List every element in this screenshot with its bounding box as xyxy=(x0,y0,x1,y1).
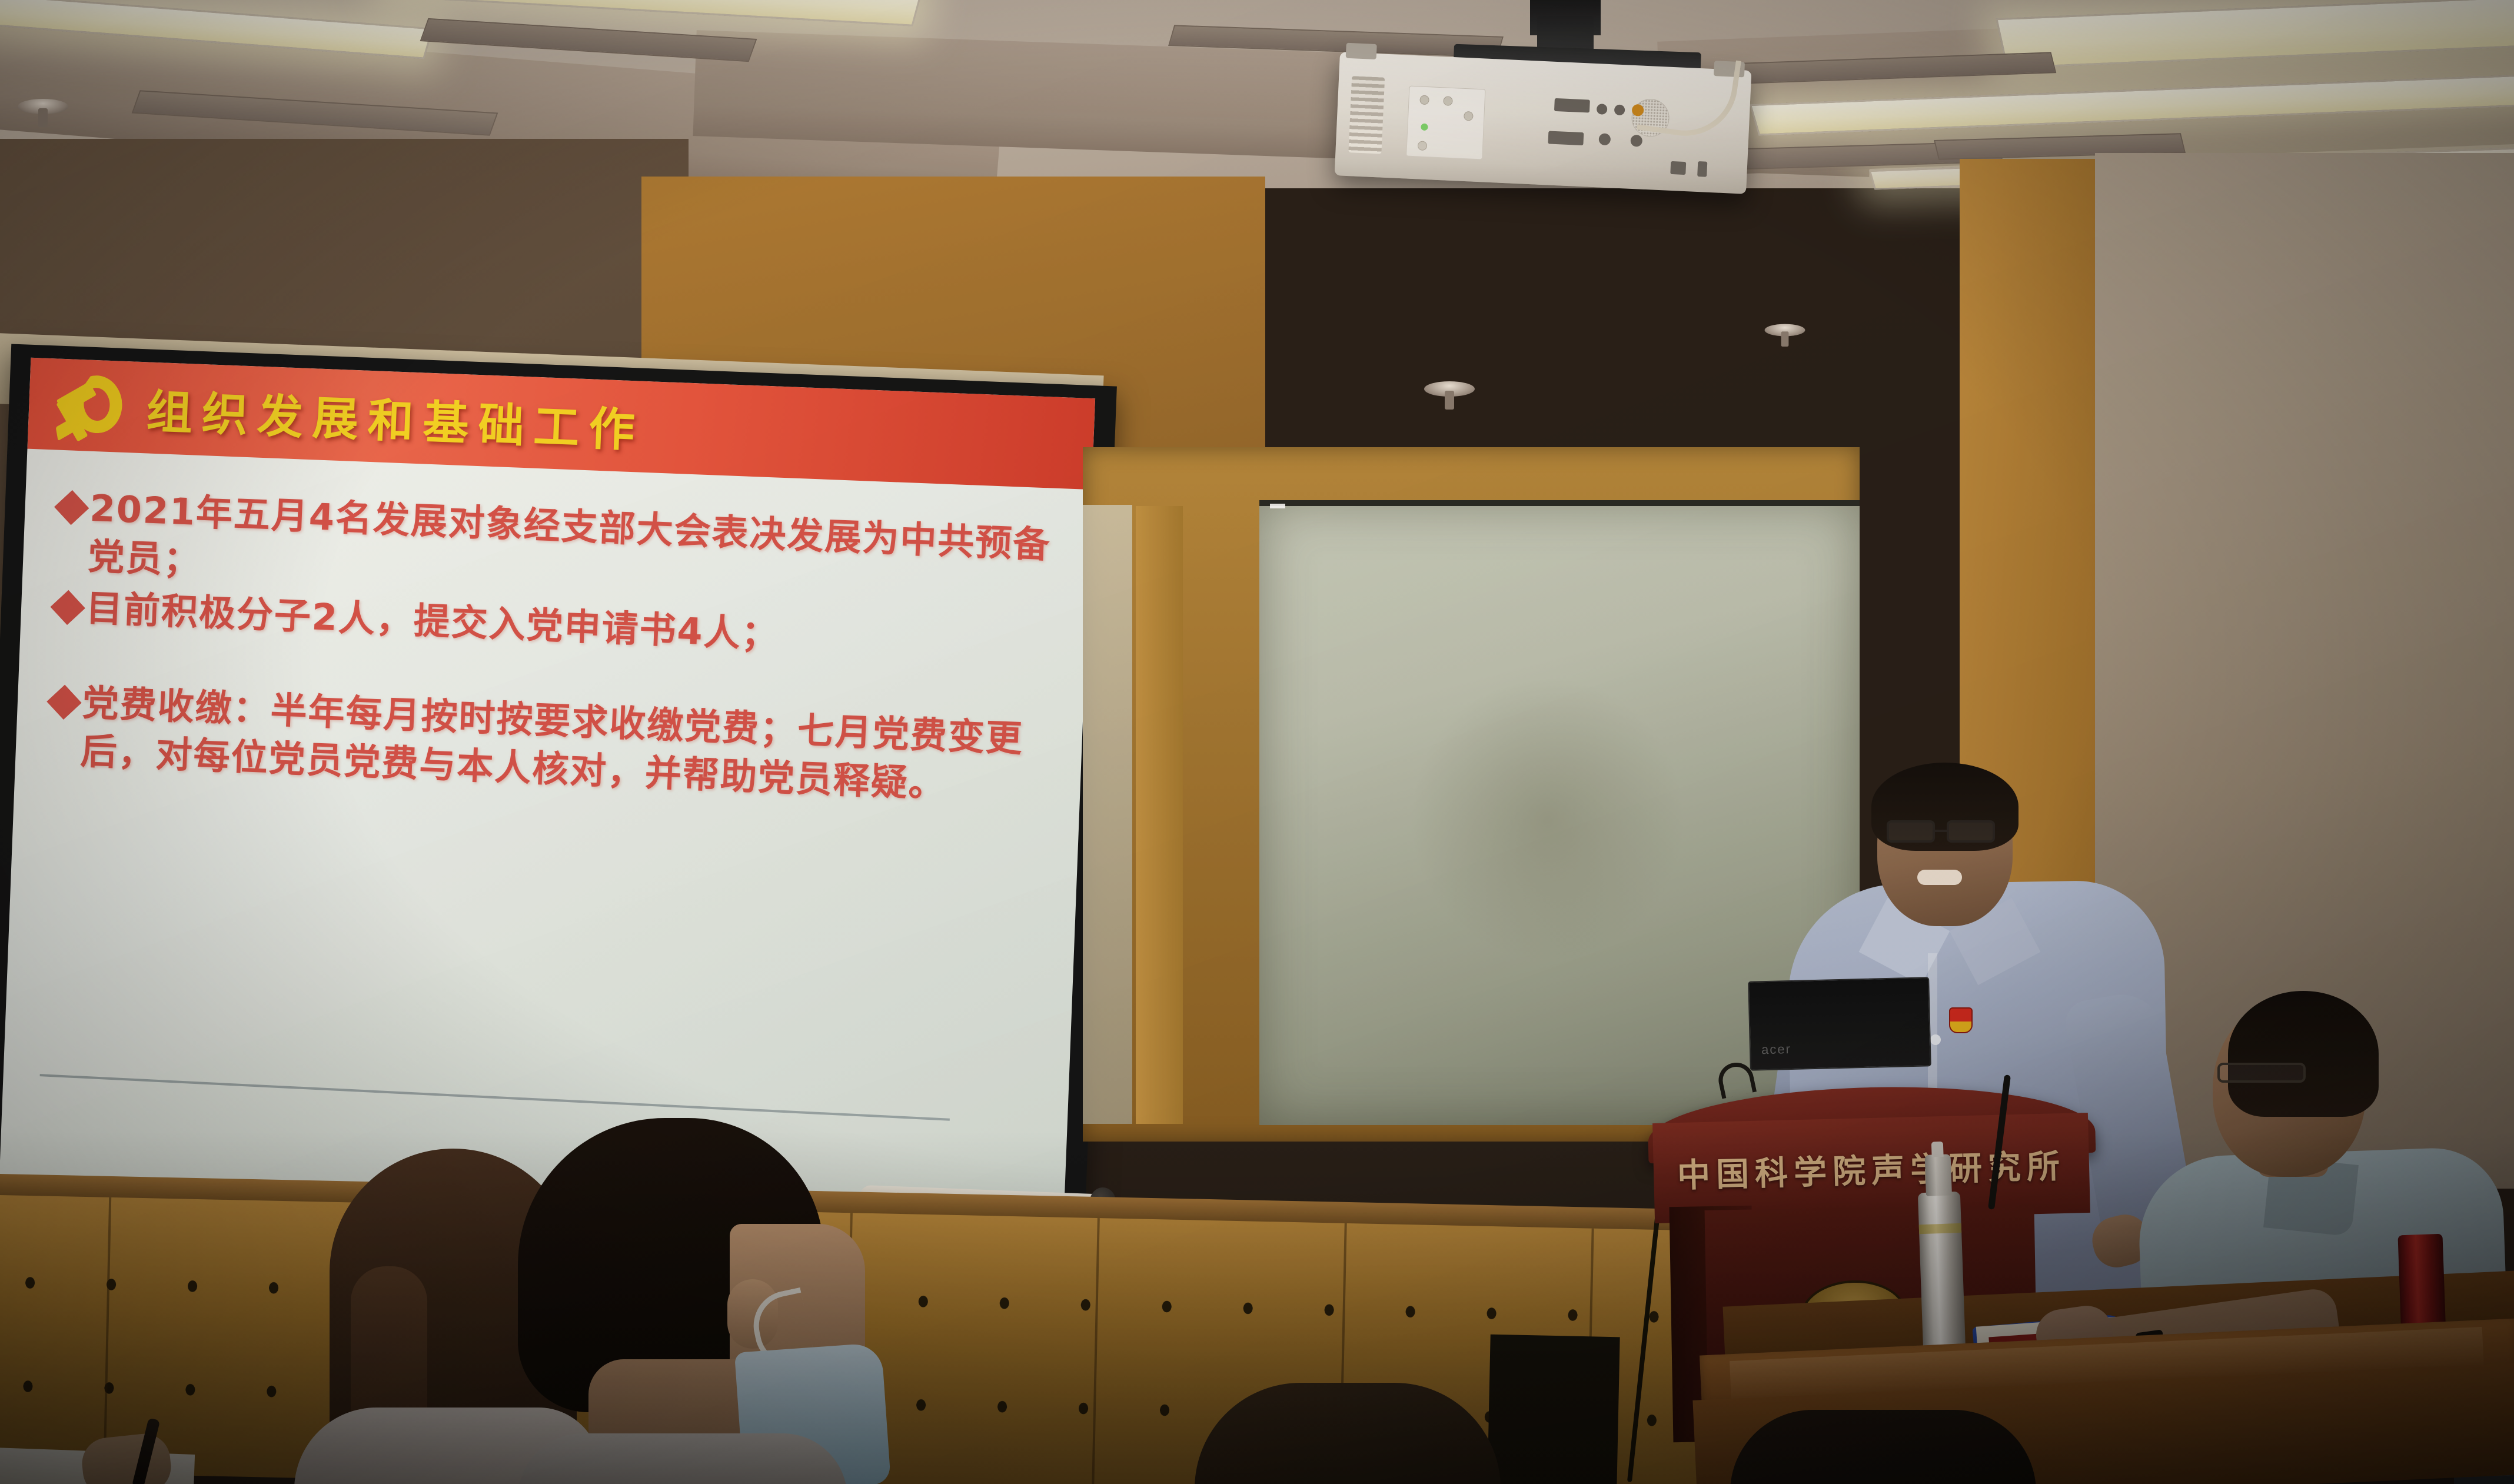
seated-man-hair xyxy=(2228,991,2379,1117)
speaker-mouth xyxy=(1917,870,1962,885)
projector-status-led xyxy=(1421,124,1428,131)
projector-vga-port xyxy=(1554,98,1590,113)
projector-audio-port xyxy=(1597,104,1608,115)
projector-audio-port xyxy=(1614,104,1625,115)
sprinkler-head-icon xyxy=(1424,381,1475,397)
podium-institution-label: 中国科学院声学研究所 xyxy=(1677,1139,2066,1196)
silver-thermos[interactable] xyxy=(1918,1192,1966,1369)
bullet-diamond-icon xyxy=(46,685,81,720)
audience-man-shoulder xyxy=(518,1433,847,1484)
whiteboard-top-shadow xyxy=(1259,500,1860,506)
audience-head-right xyxy=(1730,1410,2036,1484)
hammer-and-sickle-icon xyxy=(52,371,128,440)
thermos-cap xyxy=(1925,1154,1952,1196)
sprinkler-head-icon xyxy=(1765,324,1805,337)
bullet-diamond-icon xyxy=(51,590,85,624)
presentation-slide: 组织发展和基础工作 2021年五月4名发展对象经支部大会表决发展为中共预备党员；… xyxy=(0,358,1095,1224)
sprinkler-head-icon xyxy=(18,99,68,114)
thermos-band xyxy=(1919,1223,1962,1235)
bullet-diamond-icon xyxy=(54,490,89,525)
whiteboard-mullion xyxy=(1136,506,1183,1124)
projector-port xyxy=(1598,133,1611,145)
wall-recess xyxy=(1487,1335,1620,1484)
projector-control-panel[interactable] xyxy=(1406,86,1485,160)
eyeglasses-icon xyxy=(1883,820,2009,844)
projector-source-button[interactable] xyxy=(1464,111,1474,121)
slide-divider-line xyxy=(40,1074,950,1121)
thermos-tip xyxy=(1931,1142,1944,1157)
slide-body: 2021年五月4名发展对象经支部大会表决发展为中共预备党员； 目前积极分子2人，… xyxy=(15,449,1092,814)
projector-usb-port xyxy=(1697,161,1707,177)
projector-power-button[interactable] xyxy=(1419,95,1429,105)
speaker-shirt-button xyxy=(1930,1034,1941,1045)
party-emblem-pin xyxy=(1949,1007,1973,1033)
meeting-room-photo: 组织发展和基础工作 2021年五月4名发展对象经支部大会表决发展为中共预备党员；… xyxy=(0,0,2514,1484)
laptop-brand-label: acer xyxy=(1761,1042,1791,1057)
projector-hdmi-port xyxy=(1548,131,1584,145)
eyeglasses-icon xyxy=(2217,1063,2306,1083)
laptop-on-podium[interactable]: acer xyxy=(1748,977,1931,1070)
projector-menu-button[interactable] xyxy=(1443,96,1453,106)
projector-vent-grille xyxy=(1348,76,1385,154)
projector-port xyxy=(1630,135,1642,147)
slide-title: 组织发展和基础工作 xyxy=(145,375,646,460)
projector-foot xyxy=(1346,43,1377,59)
projector-focus-button[interactable] xyxy=(1418,141,1428,151)
whiteboard-highlight xyxy=(1270,504,1285,508)
projection-screen: 组织发展和基础工作 2021年五月4名发展对象经支部大会表决发展为中共预备党员；… xyxy=(0,344,1117,1262)
projector-lan-port xyxy=(1670,161,1686,175)
whiteboard-side-pane xyxy=(1083,505,1132,1124)
